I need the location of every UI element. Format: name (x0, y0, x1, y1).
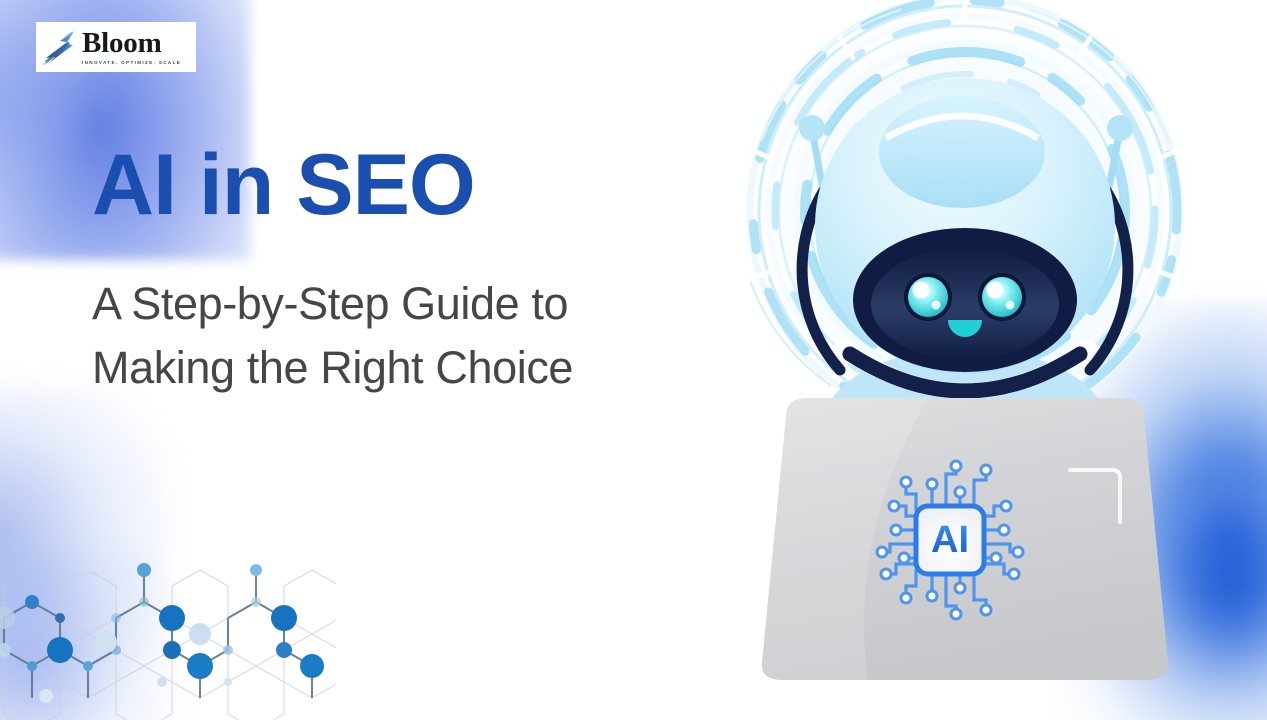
hero-copy-block: AI in SEO A Step-by-Step Guide to Making… (92, 140, 652, 400)
page-subtitle: A Step-by-Step Guide to Making the Right… (92, 272, 652, 400)
hexagon-network-graphic (0, 546, 336, 720)
arrow-swoosh-icon (40, 28, 80, 66)
logo-wordmark: Bloom (82, 29, 181, 58)
slide-canvas: Bloom INNOVATE. OPTIMIZE. SCALE AI in SE… (0, 0, 1267, 720)
ai-robot-illustration: AI (690, 0, 1250, 720)
logo-tagline: INNOVATE. OPTIMIZE. SCALE (82, 60, 181, 65)
brand-logo[interactable]: Bloom INNOVATE. OPTIMIZE. SCALE (36, 22, 196, 72)
chip-label: AI (931, 519, 969, 561)
page-title: AI in SEO (92, 140, 652, 230)
hex-nodes (0, 563, 324, 703)
